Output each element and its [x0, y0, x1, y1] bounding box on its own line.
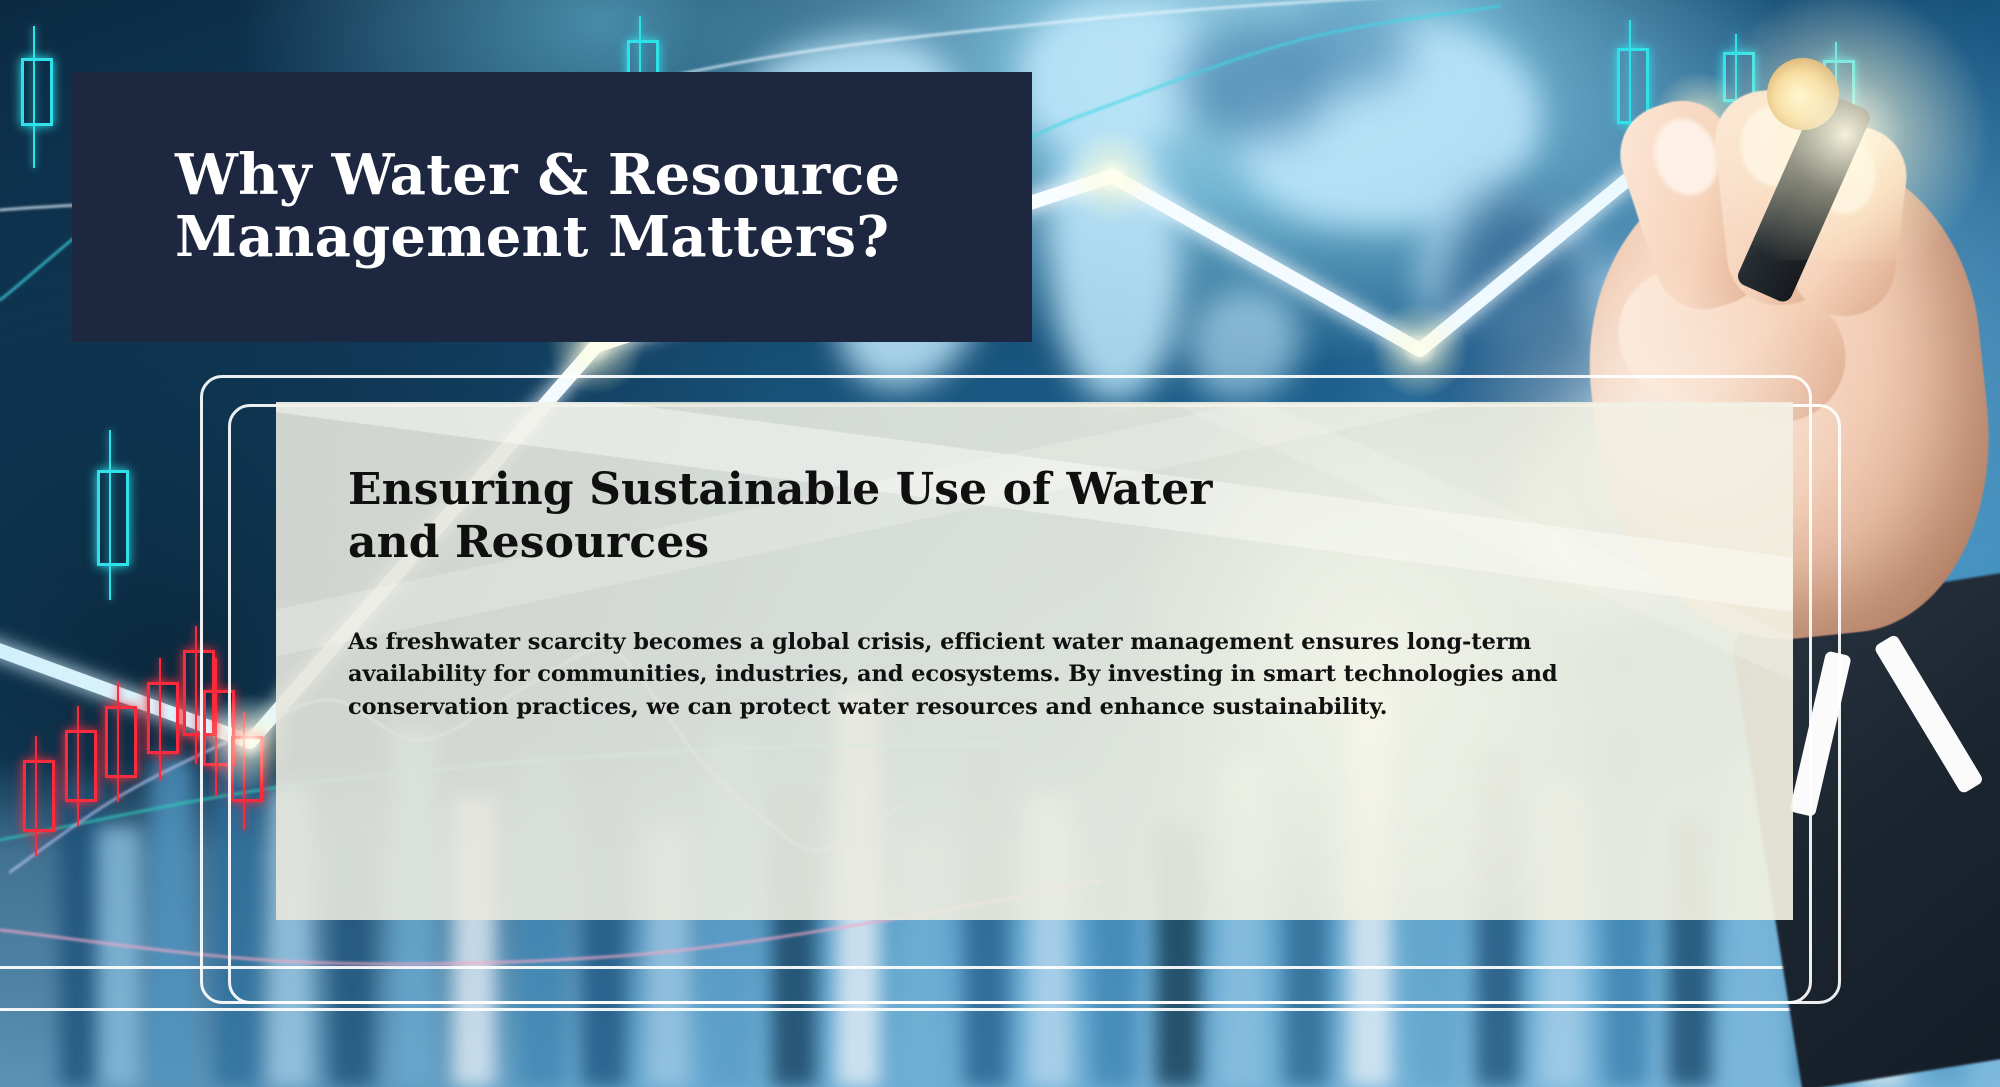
candlestick	[97, 430, 123, 600]
candlestick	[23, 736, 49, 856]
candlestick-body	[21, 58, 53, 126]
candlestick	[105, 682, 131, 802]
candlestick-body	[147, 682, 179, 754]
candlestick-body	[65, 730, 97, 802]
candlestick	[21, 26, 47, 168]
candlestick	[147, 658, 173, 780]
card-body-text: As freshwater scarcity becomes a global …	[348, 626, 1593, 724]
slide-canvas: Why Water & Resource Management Matters?…	[0, 0, 2000, 1087]
candlestick-body	[97, 470, 129, 566]
candlestick-body	[105, 706, 137, 778]
card-content: Ensuring Sustainable Use of Water and Re…	[276, 402, 1793, 723]
title-panel: Why Water & Resource Management Matters?	[72, 72, 1032, 342]
content-card: Ensuring Sustainable Use of Water and Re…	[276, 402, 1793, 920]
card-heading: Ensuring Sustainable Use of Water and Re…	[348, 464, 1793, 570]
candlestick	[65, 706, 91, 826]
candlestick-body	[23, 760, 55, 832]
page-title: Why Water & Resource Management Matters?	[175, 145, 901, 268]
